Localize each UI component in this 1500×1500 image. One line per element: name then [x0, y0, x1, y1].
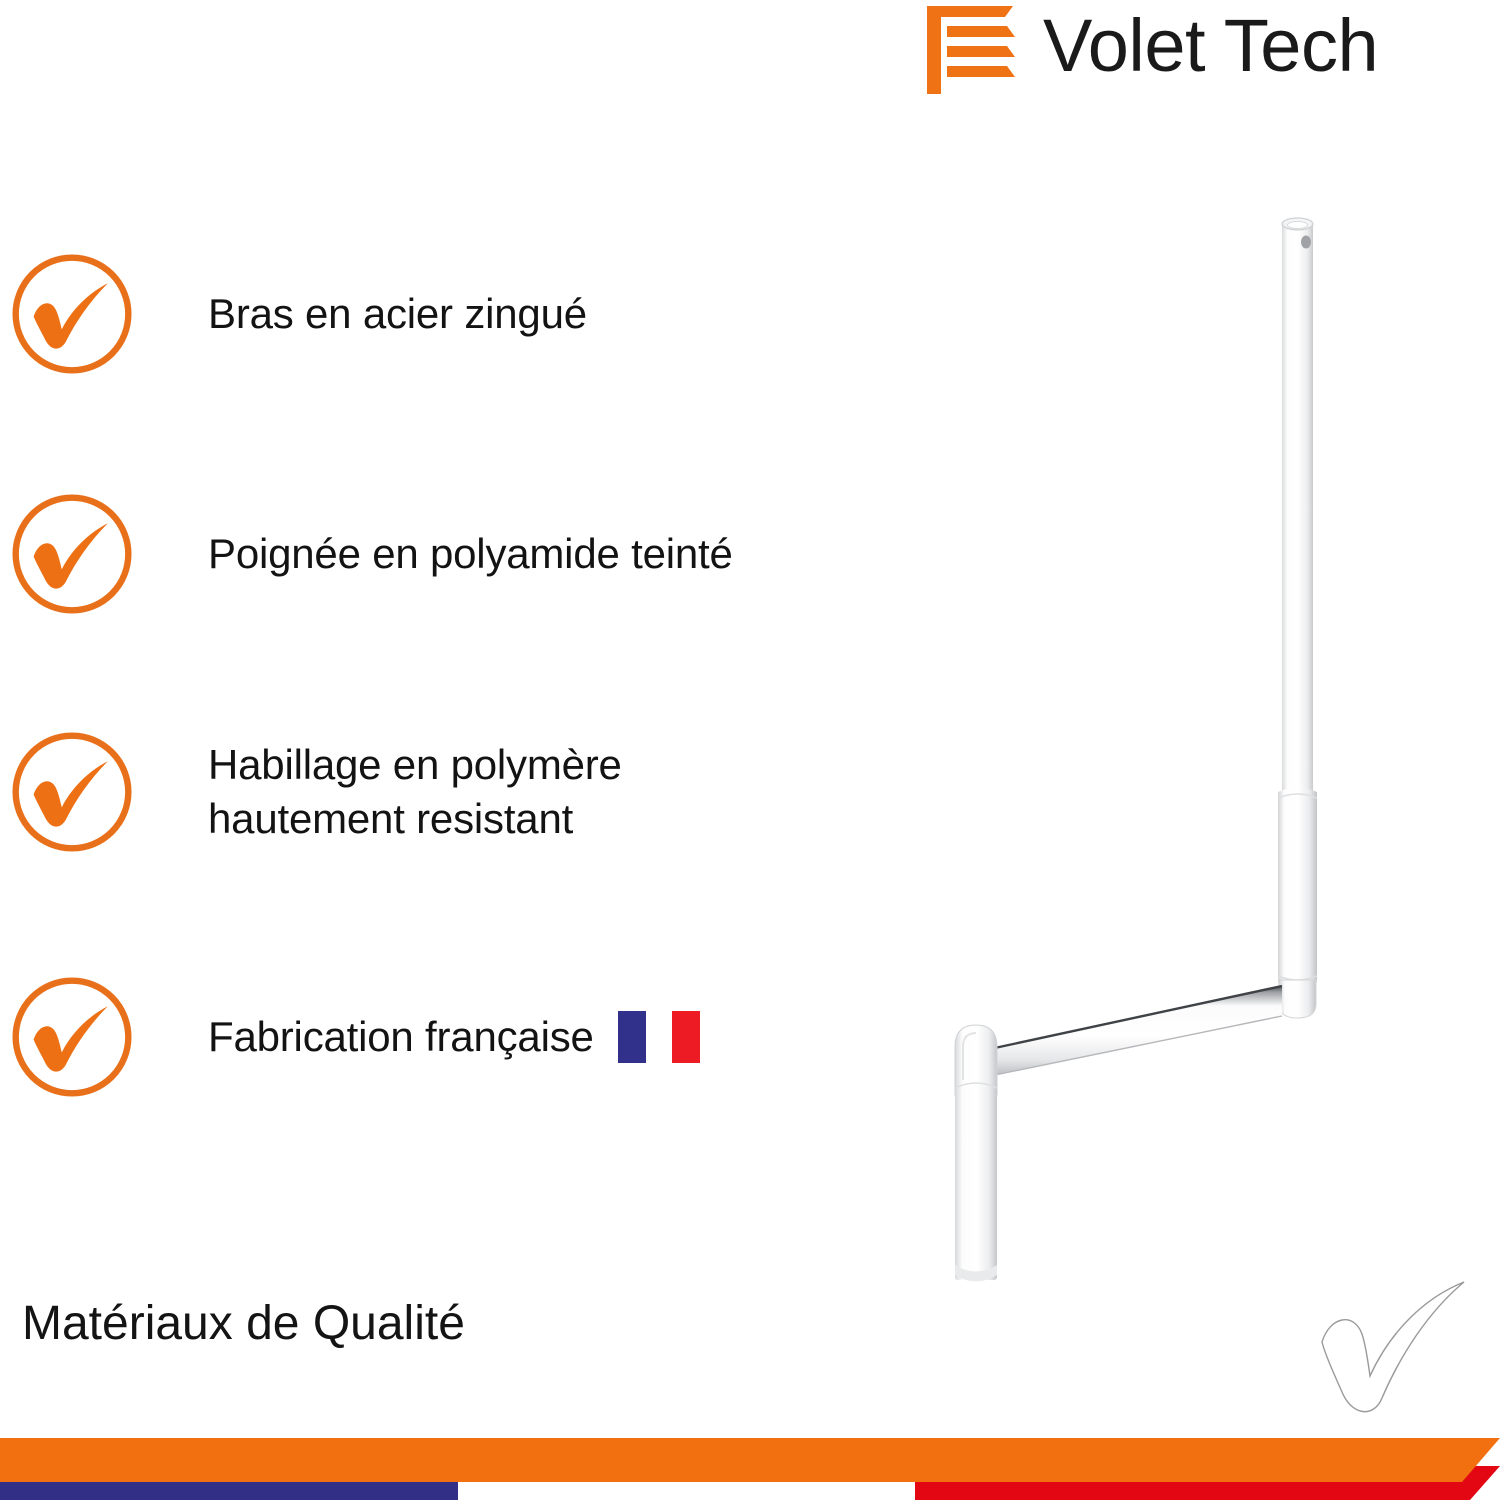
- french-flag-icon: [618, 1011, 700, 1063]
- product-feature-infographic: Volet Tech Bras en acier zingué Poignée …: [0, 0, 1500, 1500]
- elbow-joint-upper: [1279, 980, 1316, 1018]
- check-circle-icon: [8, 490, 136, 618]
- feature-text-wrap-3: Habillage en polymère hautement resistan…: [136, 728, 622, 856]
- check-circle-icon: [8, 973, 136, 1101]
- bar-orange-segment: [0, 1438, 1500, 1482]
- vertical-rod-top: [1282, 218, 1313, 796]
- check-circle-icon: [8, 728, 136, 856]
- feature-item-4: Fabrication française: [0, 973, 900, 1101]
- feature-label-2: Poignée en polyamide teinté: [208, 527, 733, 581]
- brand-name: Volet Tech: [1043, 0, 1378, 92]
- horizontal-arm: [990, 986, 1282, 1076]
- check-circle-icon: [8, 250, 136, 378]
- page-caption: Matériaux de Qualité: [22, 1296, 465, 1351]
- feature-label-3: Habillage en polymère hautement resistan…: [208, 738, 622, 846]
- feature-label-1: Bras en acier zingué: [208, 287, 587, 341]
- product-image-manivelle: [930, 180, 1360, 1310]
- brand-header: Volet Tech: [925, 0, 1500, 110]
- feature-item-1: Bras en acier zingué: [0, 250, 900, 378]
- feature-text-wrap-4: Fabrication française: [136, 973, 700, 1101]
- feature-item-3: Habillage en polymère hautement resistan…: [0, 728, 900, 856]
- feature-item-2: Poignée en polyamide teinté: [0, 490, 900, 618]
- shutter-blind-logo-icon: [925, 4, 1021, 96]
- bottom-color-bar: [0, 1420, 1500, 1500]
- feature-text-wrap-1: Bras en acier zingué: [136, 250, 587, 378]
- vertical-stub-bottom: [955, 1083, 997, 1282]
- handle-grip: [1278, 788, 1317, 987]
- feature-text-wrap-2: Poignée en polyamide teinté: [136, 490, 733, 618]
- feature-label-4: Fabrication française: [208, 1010, 594, 1064]
